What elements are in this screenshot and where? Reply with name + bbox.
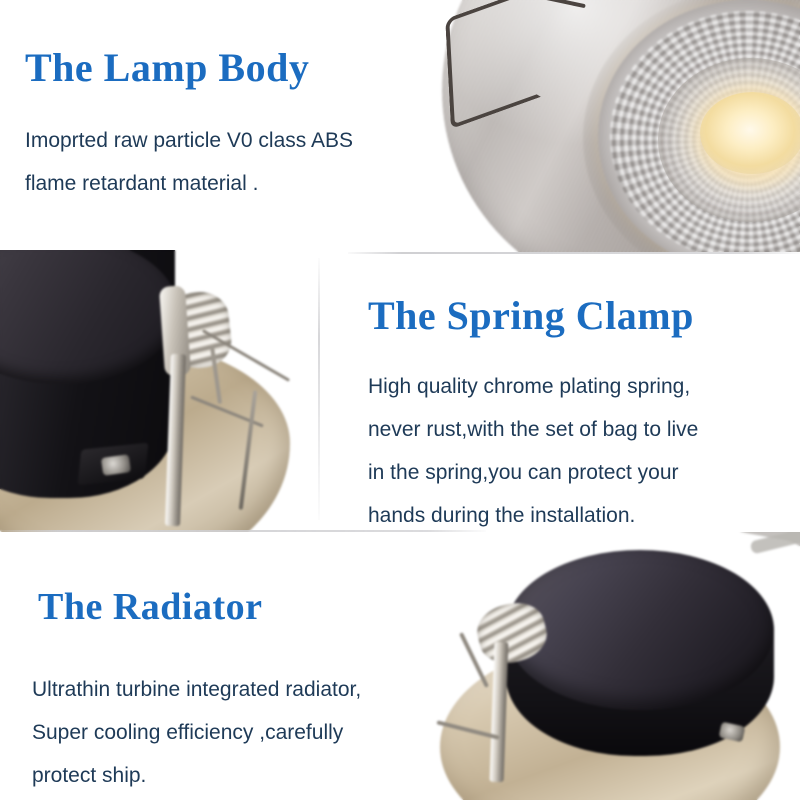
heading-radiator: The Radiator — [38, 588, 263, 626]
body-radiator: Ultrathin turbine integrated radiator, S… — [32, 668, 432, 797]
heading-lamp-body: The Lamp Body — [25, 48, 309, 88]
cob-led-emitter — [700, 92, 800, 174]
divider-vertical-section-2 — [318, 258, 320, 520]
divider-section-1-2 — [348, 252, 800, 254]
lamp-body-photo — [400, 0, 800, 252]
radiator-photo — [420, 532, 800, 800]
divider-section-2-3 — [0, 530, 486, 532]
infographic-page: The Lamp Body Imoprted raw particle V0 c… — [0, 0, 800, 800]
body-spring-clamp: High quality chrome plating spring, neve… — [368, 365, 788, 537]
spring-clamp-photo — [0, 250, 320, 532]
body-lamp-body: Imoprted raw particle V0 class ABS flame… — [25, 119, 435, 205]
bracket-screw — [101, 454, 131, 476]
heading-spring-clamp: The Spring Clamp — [368, 296, 694, 336]
